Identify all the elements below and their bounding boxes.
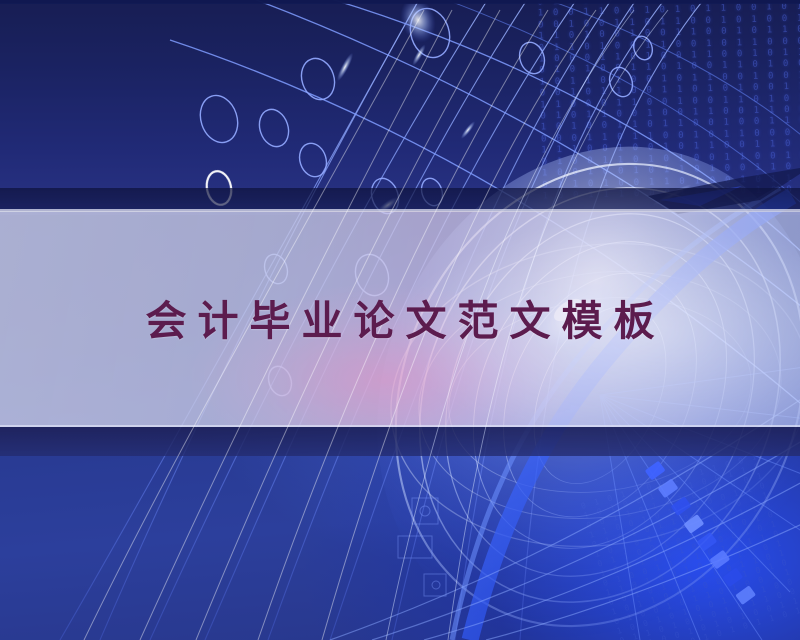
foreground-line-overlay <box>0 0 800 640</box>
slide-bottom-edge-line <box>0 0 800 4</box>
presentation-slide: 0 1 0 0 1 0 1 1 0 0 1 0 0 1 1 0 1 0 0 1 … <box>0 0 800 640</box>
